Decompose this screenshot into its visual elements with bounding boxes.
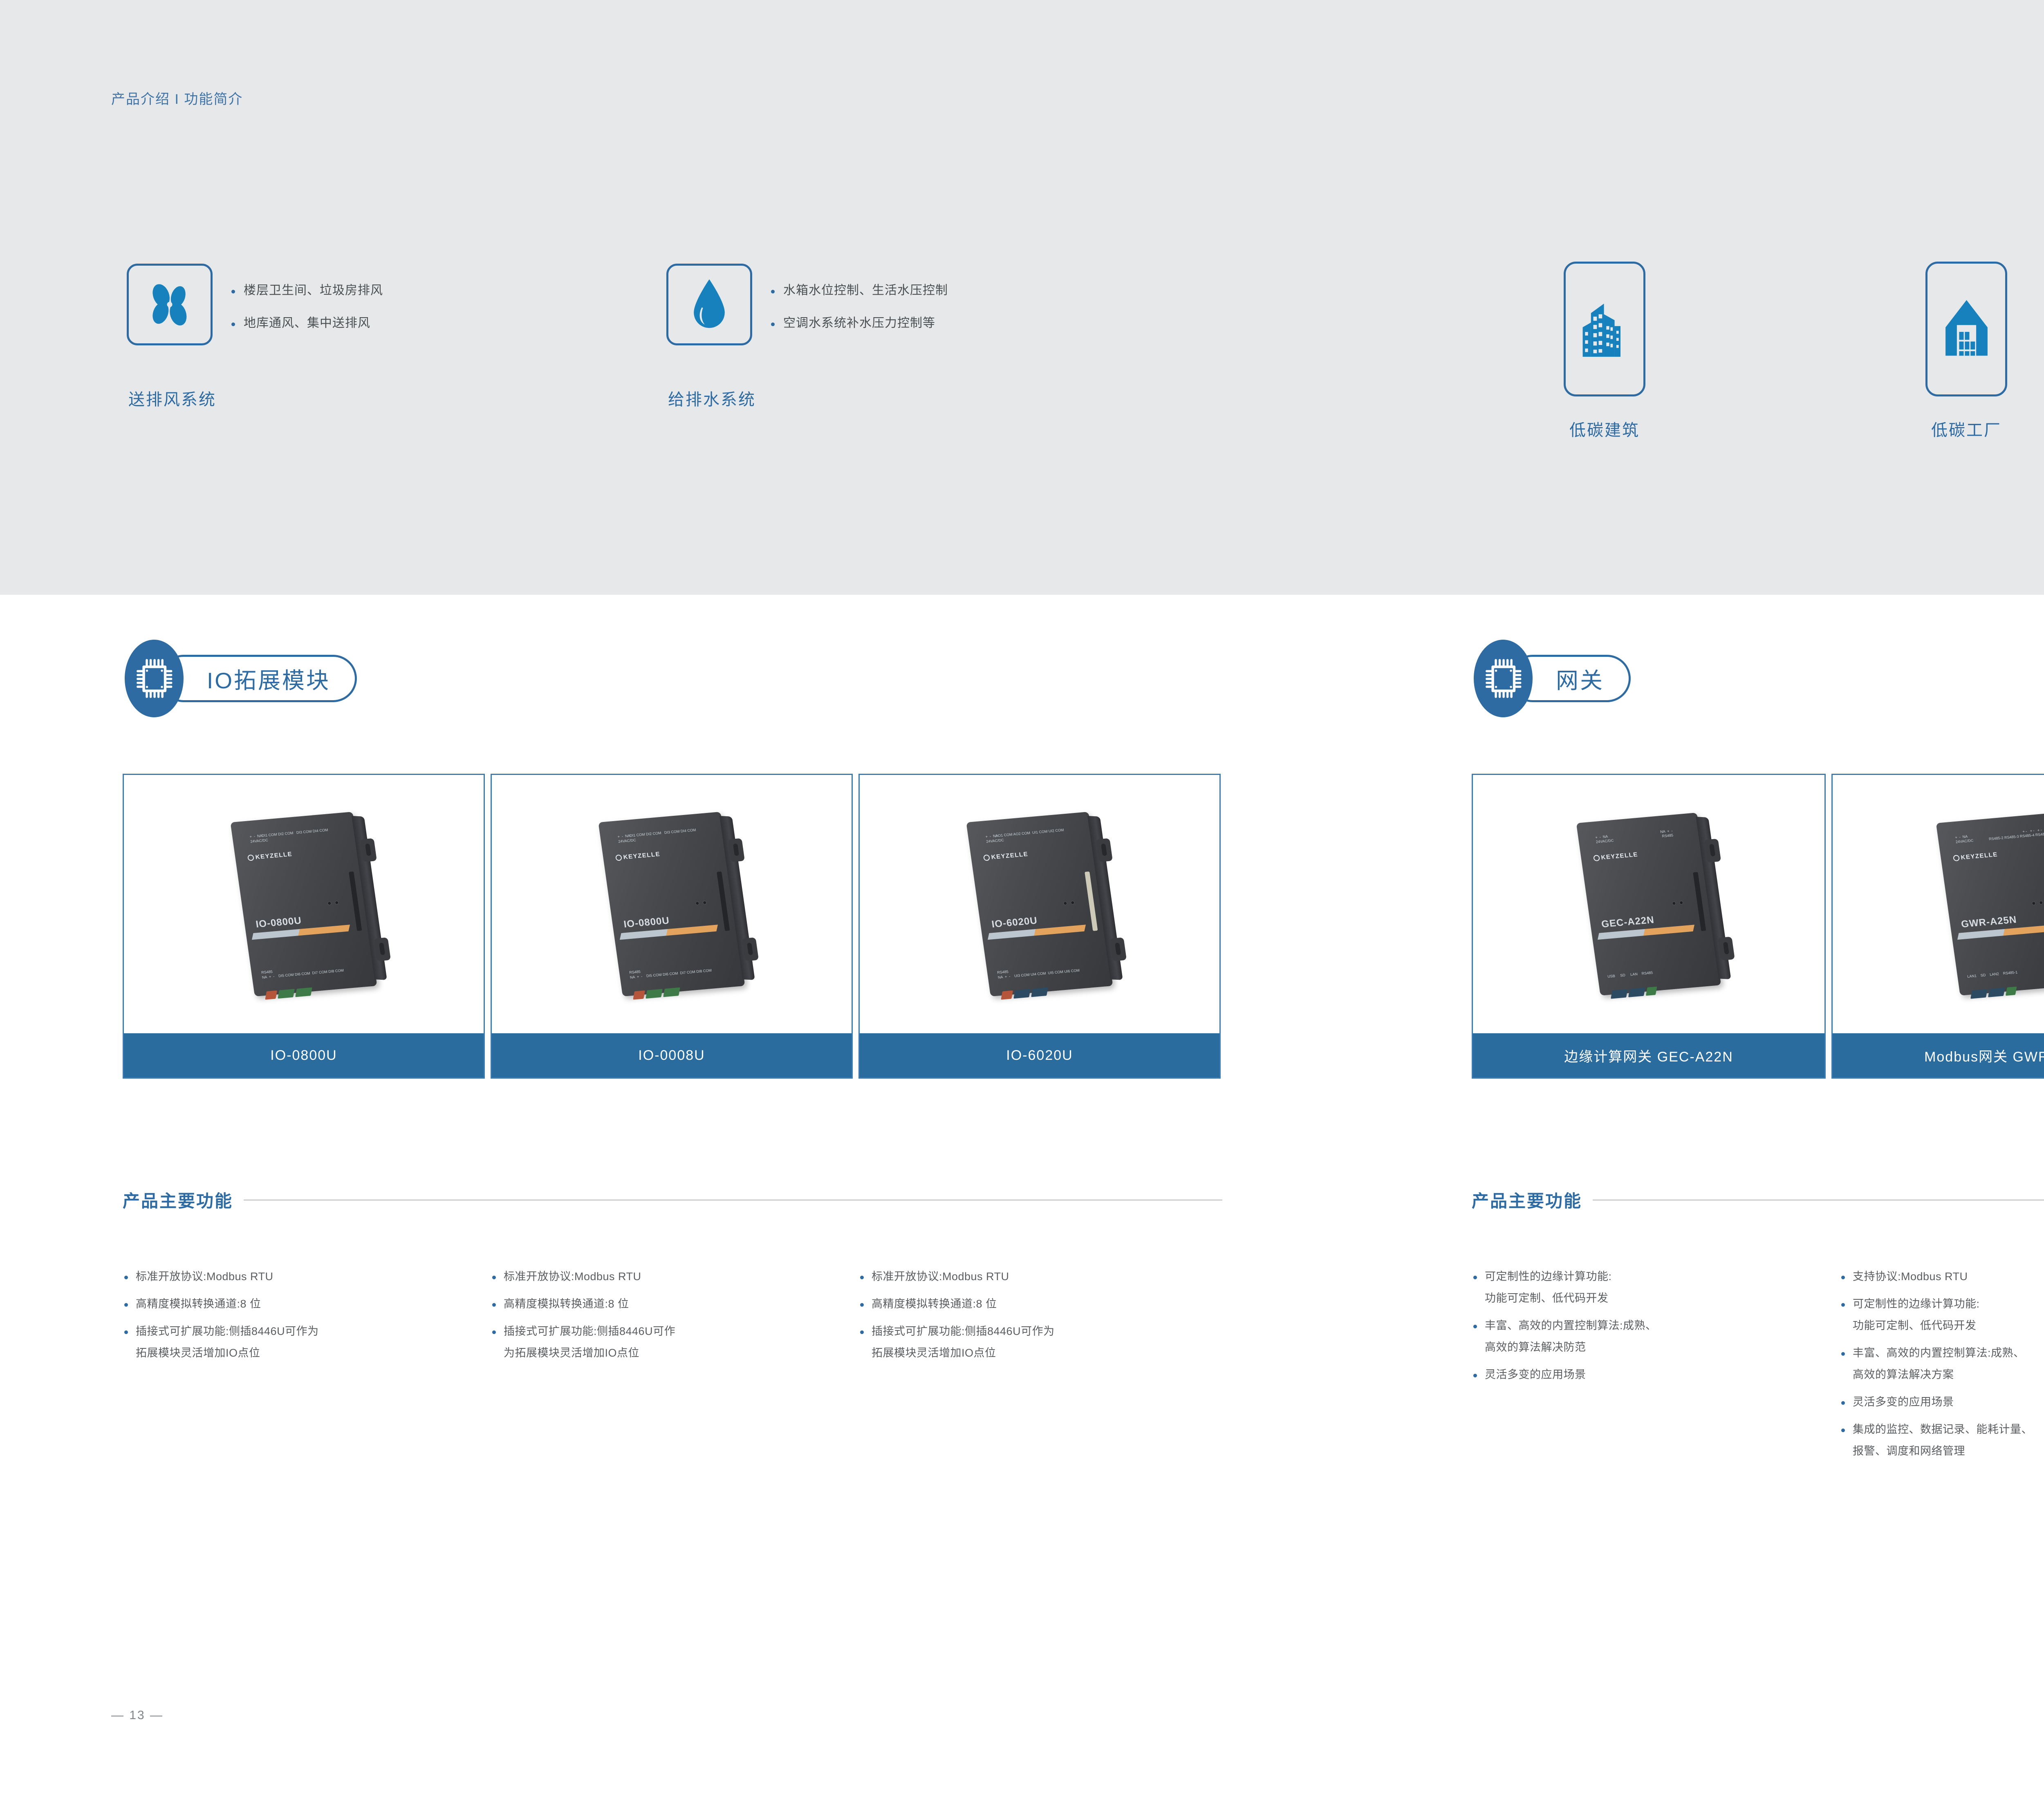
running-head-left: 产品介绍 I 功能简介 [111,88,243,108]
fan-icon [143,278,196,331]
device-brand: KEYZELLE [1953,851,1998,862]
office-buildings-icon [1578,290,1631,368]
feature-columns-gateway: 可定制性的边缘计算功能:功能可定制、低代码开发 丰富、高效的内置控制算法:成熟、… [1472,1271,2044,1473]
device-illustration: + - NA24VAC/DC AO1 COM AO2 COM UI1 COM U… [966,812,1113,996]
features-heading-gateway: 产品主要功能 [1472,1187,2044,1212]
page-number-left: — 13 — [111,1708,164,1722]
device-bottom-marks: LAN1 SD LAN2 RS485-1 [1967,970,2018,979]
section-badge-io: IO拓展模块 [125,640,357,717]
chip-icon [1484,656,1523,701]
device-status-leds [1064,901,1074,905]
list-item: 水箱水位控制、生活水压控制 [769,284,948,297]
office-buildings-icon-frame [1564,262,1645,396]
list-item: 标准开放协议:Modbus RTU [123,1271,491,1282]
heading-rule [244,1200,1222,1200]
device-top-right-marks: + - + - + - + -RS485-2 RS485-3 RS485-4 R… [1988,827,2044,842]
list-item: 高精度模拟转换通道:8 位 [123,1299,491,1310]
device-model-label: IO-0800U [623,915,670,931]
list-item: 高精度模拟转换通道:8 位 [491,1299,858,1310]
device-connectors [1970,987,2017,999]
product-card-row-io: + - NA24VAC/DC DI1 COM DI2 COM DI3 COM D… [123,774,1221,1079]
device-model-label: GWR-A25N [1960,914,2017,930]
chip-icon-badge [125,640,184,717]
product-image: + - NA24VAC/DC + - + - + - + -RS485-2 RS… [1833,775,2044,1033]
device-illustration: + - NA24VAC/DC DI1 COM DI2 COM DI3 COM D… [230,812,377,996]
list-item: 丰富、高效的内置控制算法:成熟、高效的算法解决防范 [1472,1320,1840,1353]
list-item: 可定制性的边缘计算功能:功能可定制、低代码开发 [1840,1299,2044,1331]
scenario-label: 给排水系统 [668,386,756,410]
factory-icon-frame [1925,262,2007,396]
feature-column: 支持协议:Modbus RTU 可定制性的边缘计算功能:功能可定制、低代码开发 … [1840,1271,2044,1473]
chip-icon [134,656,174,701]
section-badge-gateway: 网关 [1474,640,1631,717]
heading-rule [1593,1200,2044,1200]
water-drop-icon-frame [666,264,752,345]
device-bottom-marks: RS485NA + - UI3 COM UI4 COM UI5 COM UI6 … [997,963,1080,980]
scenario-bullet-list: 水箱水位控制、生活水压控制 空调水系统补水压力控制等 [769,284,948,349]
scenario-water-supply: 给排水系统 水箱水位控制、生活水压控制 空调水系统补水压力控制等 [666,264,752,345]
list-item: 灵活多变的应用场景 [1472,1369,1840,1380]
product-caption: Modbus网关 GWR-A25N [1833,1033,2044,1077]
scenario-ventilation: 送排风系统 楼层卫生间、垃圾房排风 地库通风、集中送排风 [127,264,213,345]
product-image: + - NA24VAC/DC AO1 COM AO2 COM UI1 COM U… [860,775,1219,1033]
list-item: 地库通风、集中送排风 [229,317,383,330]
list-item: 高精度模拟转换通道:8 位 [858,1299,1226,1310]
device-status-leds [696,901,706,905]
list-item: 可定制性的边缘计算功能:功能可定制、低代码开发 [1472,1271,1840,1304]
target-low-carbon-building: 低碳建筑 [1564,262,1645,396]
list-item: 插接式可扩展功能:侧插8446U可作为拓展模块灵活增加IO点位 [491,1326,858,1359]
list-item: 灵活多变的应用场景 [1840,1397,2044,1408]
product-caption: 边缘计算网关 GEC-A22N [1473,1033,1824,1077]
device-status-leds [1672,901,1683,905]
product-card[interactable]: + - NA24VAC/DC AO1 COM AO2 COM UI1 COM U… [858,774,1221,1079]
feature-column: 标准开放协议:Modbus RTU 高精度模拟转换通道:8 位 插接式可扩展功能… [858,1271,1226,1375]
list-item: 丰富、高效的内置控制算法:成熟、高效的算法解决方案 [1840,1348,2044,1380]
list-item: 插接式可扩展功能:侧插8446U可作为拓展模块灵活增加IO点位 [858,1326,1226,1359]
list-item: 集成的监控、数据记录、能耗计量、报警、调度和网络管理 [1840,1424,2044,1457]
device-bottom-marks: RS485NA + - DI5 COM DI6 COM DI7 COM DI8 … [629,963,712,980]
device-top-left-marks: + - NA24VAC/DC [1955,834,1974,844]
list-item: 支持协议:Modbus RTU [1840,1271,2044,1282]
product-card-row-gateway: + - NA24VAC/DC NA + -RS485 KEYZELLE GEC-… [1472,774,2044,1079]
device-connectors [265,987,312,1000]
scenario-bullet-list: 楼层卫生间、垃圾房排风 地库通风、集中送排风 [229,284,383,349]
product-card[interactable]: + - NA24VAC/DC DI1 COM DI2 COM DI3 COM D… [123,774,485,1079]
device-model-label: GEC-A22N [1600,914,1655,930]
water-drop-icon [685,276,734,333]
product-image: + - NA24VAC/DC DI1 COM DI2 COM DI3 COM D… [124,775,484,1033]
target-low-carbon-factory: 低碳工厂 [1925,262,2007,396]
device-top-right-marks: DI1 COM DI2 COM DI3 COM DI4 COM [630,828,697,838]
product-card[interactable]: + - NA24VAC/DC DI1 COM DI2 COM DI3 COM D… [491,774,853,1079]
list-item: 插接式可扩展功能:侧插8446U可作为拓展模块灵活增加IO点位 [123,1326,491,1359]
target-label: 低碳建筑 [1564,417,1645,441]
device-brand: KEYZELLE [983,851,1029,861]
scenario-label: 送排风系统 [128,386,216,410]
list-item: 标准开放协议:Modbus RTU [858,1271,1226,1282]
product-caption: IO-0008U [492,1033,852,1077]
features-heading-io: 产品主要功能 [123,1187,1222,1212]
device-bottom-marks: USB SD LAN RS485 [1607,971,1653,979]
feature-column: 可定制性的边缘计算功能:功能可定制、低代码开发 丰富、高效的内置控制算法:成熟、… [1472,1271,1840,1473]
device-top-right-marks: DI1 COM DI2 COM DI3 COM DI4 COM [262,828,329,838]
device-top-right-marks: AO1 COM AO2 COM UI1 COM UI2 COM [995,828,1065,839]
product-caption: IO-6020U [860,1033,1219,1077]
target-label: 低碳工厂 [1925,417,2007,441]
product-image: + - NA24VAC/DC DI1 COM DI2 COM DI3 COM D… [492,775,852,1033]
device-model-label: IO-6020U [991,915,1038,931]
device-brand: KEYZELLE [615,851,661,861]
list-item: 标准开放协议:Modbus RTU [491,1271,858,1282]
feature-columns-io: 标准开放协议:Modbus RTU 高精度模拟转换通道:8 位 插接式可扩展功能… [123,1271,1235,1375]
device-brand: KEYZELLE [1593,851,1638,862]
device-connectors [633,987,680,1000]
device-illustration: + - NA24VAC/DC + - + - + - + -RS485-2 RS… [1936,813,2044,996]
device-illustration: + - NA24VAC/DC NA + -RS485 KEYZELLE GEC-… [1576,813,1721,996]
product-card[interactable]: + - NA24VAC/DC + - + - + - + -RS485-2 RS… [1831,774,2044,1079]
feature-column: 标准开放协议:Modbus RTU 高精度模拟转换通道:8 位 插接式可扩展功能… [491,1271,858,1375]
device-bottom-marks: RS485NA + - DI5 COM DI6 COM DI7 COM DI8 … [261,963,344,980]
product-image: + - NA24VAC/DC NA + -RS485 KEYZELLE GEC-… [1473,775,1824,1033]
factory-icon [1941,290,1992,368]
list-item: 楼层卫生间、垃圾房排风 [229,284,383,297]
section-title-io: IO拓展模块 [160,655,357,702]
device-illustration: + - NA24VAC/DC DI1 COM DI2 COM DI3 COM D… [598,812,745,996]
device-top-right-marks: NA + -RS485 [1660,829,1674,839]
device-connectors [1001,987,1048,1000]
product-caption: IO-0800U [124,1033,484,1077]
feature-column: 标准开放协议:Modbus RTU 高精度模拟转换通道:8 位 插接式可扩展功能… [123,1271,491,1375]
device-brand: KEYZELLE [247,851,293,861]
list-item: 空调水系统补水压力控制等 [769,317,948,330]
device-top-left-marks: + - NA24VAC/DC [1595,834,1614,844]
device-status-leds [328,901,338,905]
device-connectors [1611,987,1657,999]
device-model-label: IO-0800U [255,915,303,931]
device-status-leds [2032,901,2043,905]
chip-icon-badge [1474,640,1533,717]
features-title: 产品主要功能 [1472,1187,1582,1212]
fan-icon-frame [127,264,213,345]
features-title: 产品主要功能 [123,1187,233,1212]
product-card[interactable]: + - NA24VAC/DC NA + -RS485 KEYZELLE GEC-… [1472,774,1826,1079]
